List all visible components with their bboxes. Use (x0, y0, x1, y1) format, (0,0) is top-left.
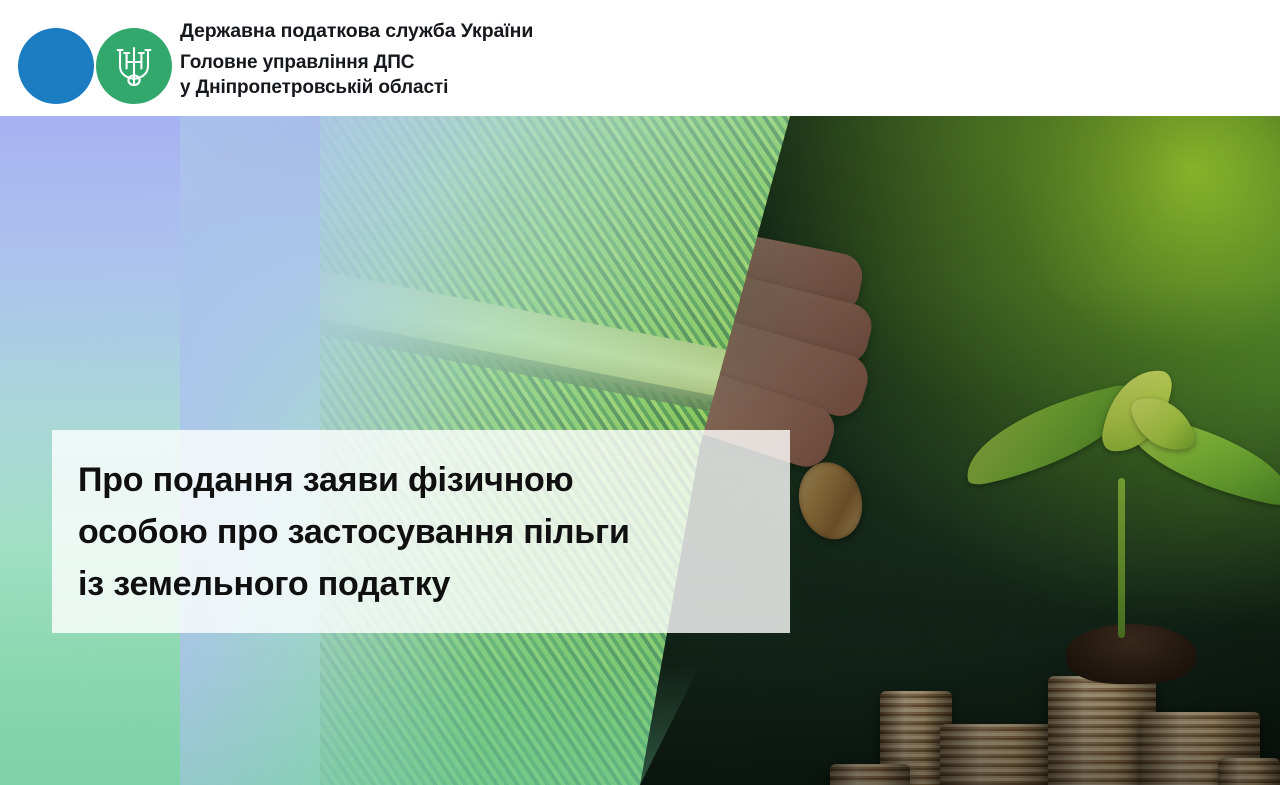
department-name: Головне управління ДПС у Дніпропетровськ… (180, 50, 533, 100)
department-line-1: Головне управління ДПС (180, 50, 533, 75)
page-title-line-1: Про подання заяви фізичною (78, 454, 630, 506)
tryzub-trident-icon (113, 41, 155, 91)
banner-page: Державна податкова служба України Головн… (0, 0, 1280, 785)
dps-logo[interactable] (10, 14, 170, 102)
hero-bottom-fade (0, 665, 700, 785)
page-title-line-3: із земельного податку (78, 558, 630, 610)
page-title: Про подання заяви фізичною особою про за… (52, 454, 656, 610)
department-line-2: у Дніпропетровській області (180, 75, 533, 100)
site-header: Державна податкова служба України Головн… (0, 0, 1280, 116)
blue-circle-icon (18, 28, 94, 104)
title-panel: Про подання заяви фізичною особою про за… (52, 430, 790, 633)
page-title-line-2: особою про застосування пільги (78, 506, 630, 558)
org-titles: Державна податкова служба України Головн… (180, 16, 533, 100)
org-name: Державна податкова служба України (180, 18, 533, 44)
